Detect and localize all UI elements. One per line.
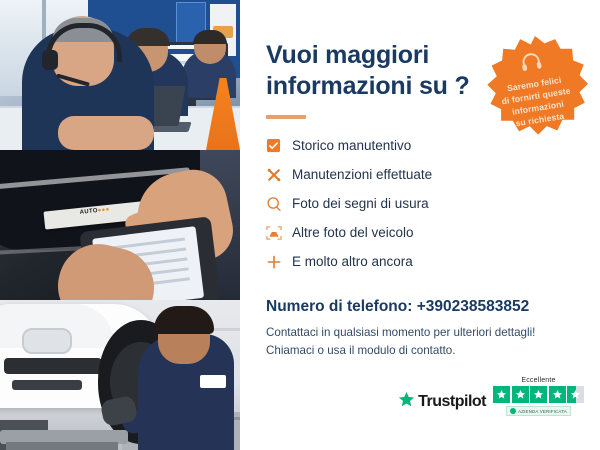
star-icon-half (567, 386, 584, 403)
feature-label: Storico manutentivo (292, 138, 411, 153)
list-item: Foto dei segni di usura (266, 189, 570, 218)
phone-number[interactable]: +390238583852 (417, 298, 530, 315)
magnifier-icon (266, 196, 292, 212)
mechanic-wheel-photo (0, 300, 240, 450)
contact-note: Contattaci in qualsiasi momento per ulte… (266, 324, 570, 360)
feature-label: Altre foto del veicolo (292, 225, 414, 240)
content-panel: Vuoi maggiori informazioni su ? Storico … (240, 0, 600, 450)
trustpilot-widget[interactable]: Trustpilot Eccellente AZIENDA VERIFICATA (398, 377, 584, 416)
call-center-agent-photo (0, 0, 240, 150)
trustpilot-stars (493, 386, 584, 403)
crossed-tools-icon (266, 167, 292, 183)
star-icon (512, 386, 529, 403)
feature-label: E molto altro ancora (292, 254, 413, 269)
star-icon (549, 386, 566, 403)
phone-label: Numero di telefono: (266, 298, 412, 315)
feature-list: Storico manutentivo Manutenzioni effettu… (266, 131, 570, 276)
headline-line-1: Vuoi maggiori (266, 41, 429, 69)
list-item: Manutenzioni effettuate (266, 160, 570, 189)
trustpilot-logo: Trustpilot (398, 391, 486, 416)
trustpilot-rating-label: Eccellente (521, 377, 555, 384)
vehicle-inspection-photo: AUTO●●● (0, 150, 240, 300)
verified-check-icon (510, 408, 516, 414)
trustpilot-star-icon (398, 391, 415, 413)
star-icon (530, 386, 547, 403)
list-item: E molto altro ancora (266, 247, 570, 276)
feature-label: Foto dei segni di usura (292, 196, 429, 211)
promo-banner: AUTO●●● (0, 0, 600, 450)
checkbox-checked-icon (266, 138, 292, 153)
list-item: Storico manutentivo (266, 131, 570, 160)
trustpilot-brand: Trustpilot (418, 393, 486, 411)
car-scan-icon (266, 225, 292, 241)
verified-business-badge: AZIENDA VERIFICATA (506, 406, 571, 416)
contact-note-line-1: Contattaci in qualsiasi momento per ulte… (266, 324, 570, 342)
feature-label: Manutenzioni effettuate (292, 167, 432, 182)
star-icon (493, 386, 510, 403)
photo-collage: AUTO●●● (0, 0, 240, 450)
contact-note-line-2: Chiamaci o usa il modulo di contatto. (266, 342, 570, 360)
verified-label: AZIENDA VERIFICATA (518, 409, 567, 414)
title-divider (266, 115, 306, 119)
plus-icon (266, 254, 292, 270)
phone-line: Numero di telefono: +390238583852 (266, 298, 570, 316)
headline-line-2: informazioni su ? (266, 72, 470, 100)
list-item: Altre foto del veicolo (266, 218, 570, 247)
